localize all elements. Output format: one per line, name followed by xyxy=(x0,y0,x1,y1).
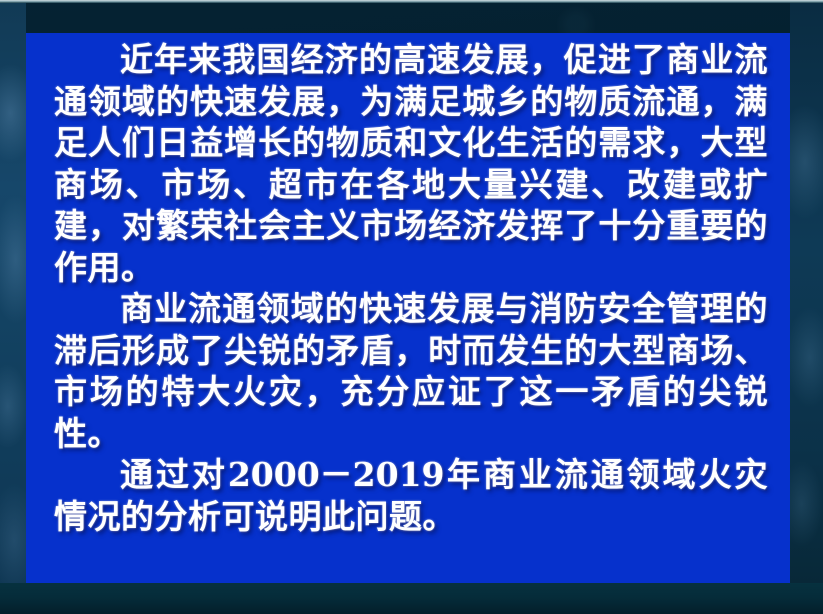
slide-content-panel: 近年来我国经济的高速发展，促进了商业流通领域的快速发展，为满足城乡的物质流通，满… xyxy=(26,33,790,583)
top-edge-highlight xyxy=(0,0,823,3)
paragraph-3: 通过对2000－2019年商业流通领域火灾情况的分析可说明此问题。 xyxy=(54,454,768,537)
slide-root: 近年来我国经济的高速发展，促进了商业流通领域的快速发展，为满足城乡的物质流通，满… xyxy=(0,0,823,614)
bottom-margin-band xyxy=(0,583,823,614)
paragraph-2: 商业流通领域的快速发展与消防安全管理的滞后形成了尖锐的矛盾，时而发生的大型商场、… xyxy=(54,288,768,454)
left-margin-band xyxy=(0,3,26,614)
slide-body-text: 近年来我国经济的高速发展，促进了商业流通领域的快速发展，为满足城乡的物质流通，满… xyxy=(26,39,790,537)
paragraph-3-prefix: 通过对 xyxy=(120,455,228,494)
right-margin-band xyxy=(790,3,823,614)
year-range: 2000－2019 xyxy=(228,455,445,494)
paragraph-1: 近年来我国经济的高速发展，促进了商业流通领域的快速发展，为满足城乡的物质流通，满… xyxy=(54,39,768,288)
